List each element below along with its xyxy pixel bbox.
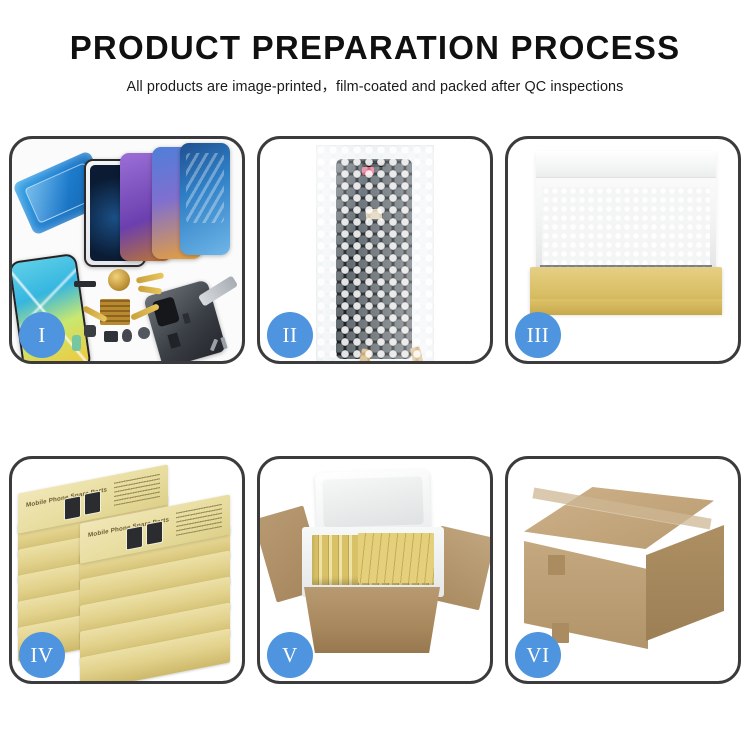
foam-lid xyxy=(315,469,431,535)
battery-icon xyxy=(72,335,81,351)
phone-graphic-icon xyxy=(126,525,143,550)
phone-graphic-icon xyxy=(146,520,163,545)
earpiece-speaker-icon xyxy=(74,281,96,287)
packed-retail-boxes xyxy=(358,533,434,583)
step-badge-1: I xyxy=(19,312,65,358)
step-badge-4: IV xyxy=(19,632,65,678)
tray-front-edge xyxy=(530,299,722,315)
carton-side-face xyxy=(646,525,724,641)
step-badge-3: III xyxy=(515,312,561,358)
box-spec-lines xyxy=(176,503,222,536)
tape-tab xyxy=(548,555,565,575)
step-panel-3[interactable]: III xyxy=(505,136,741,364)
step-panel-2[interactable]: II xyxy=(257,136,493,364)
component-icon xyxy=(104,331,118,342)
page-title: PRODUCT PREPARATION PROCESS xyxy=(0,31,750,66)
page-subtitle: All products are image-printed，film-coat… xyxy=(0,75,750,96)
shipping-carton-body xyxy=(304,587,440,653)
flex-cable-icon xyxy=(136,272,165,284)
camera-module-icon xyxy=(84,325,96,337)
plastic-sheen xyxy=(316,145,434,361)
step-badge-2: II xyxy=(267,312,313,358)
process-steps-grid: I II xyxy=(9,136,741,684)
phone-screen-icon xyxy=(180,143,230,255)
step-panel-1[interactable]: I xyxy=(9,136,245,364)
speaker-coil-icon xyxy=(108,269,130,291)
box-spec-lines xyxy=(114,473,160,506)
step-panel-6[interactable]: VI xyxy=(505,456,741,684)
step-panel-4[interactable]: Mobile Phone Spare Parts Mobile Phone Sp… xyxy=(9,456,245,684)
phone-graphic-icon xyxy=(84,490,101,515)
phone-graphic-icon xyxy=(64,495,81,520)
step-badge-6: VI xyxy=(515,632,561,678)
header: PRODUCT PREPARATION PROCESS All products… xyxy=(0,0,750,96)
step-badge-5: V xyxy=(267,632,313,678)
bubble-wrap-bag xyxy=(316,145,434,361)
button-component-icon xyxy=(138,327,150,339)
product-preparation-infographic: PRODUCT PREPARATION PROCESS All products… xyxy=(0,0,750,750)
step-panel-5[interactable]: V xyxy=(257,456,493,684)
vibrator-motor-icon xyxy=(122,329,132,342)
flex-cable-icon xyxy=(138,285,163,294)
foam-sheet xyxy=(542,187,710,269)
